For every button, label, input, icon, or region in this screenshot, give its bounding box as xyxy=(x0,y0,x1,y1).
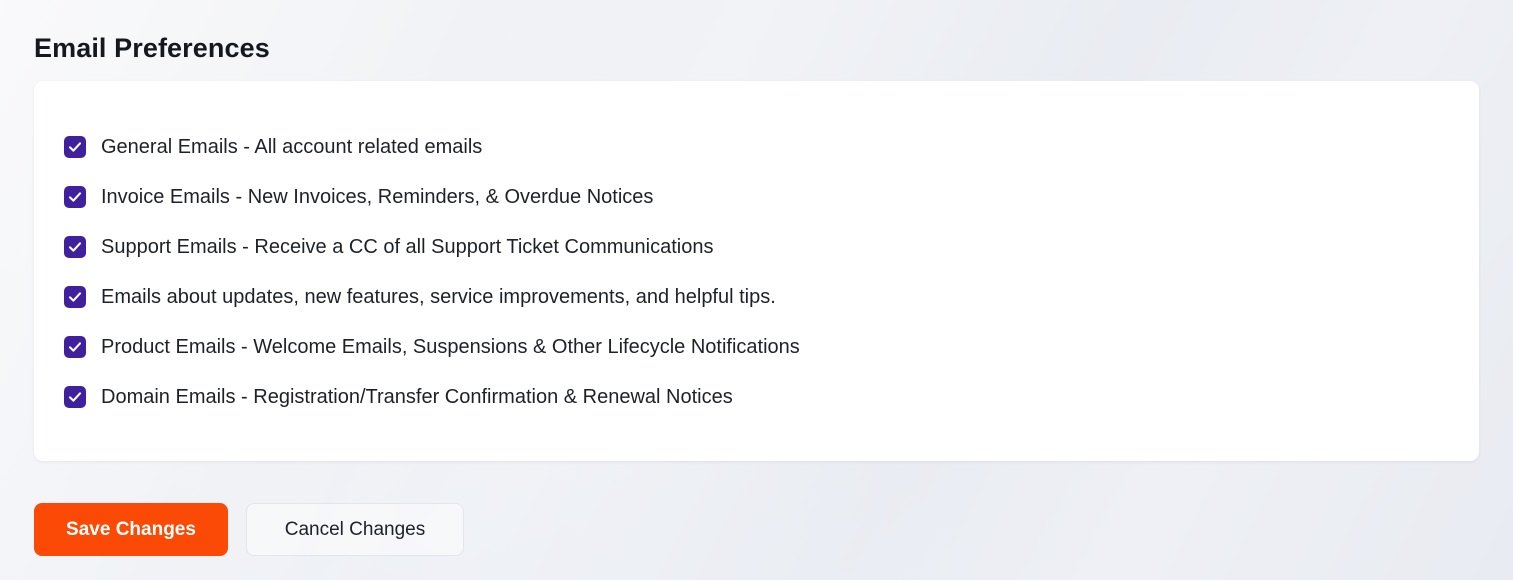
check-icon xyxy=(68,140,82,154)
list-item[interactable]: General Emails - All account related ema… xyxy=(64,122,1455,172)
list-item-label: General Emails - All account related ema… xyxy=(101,135,482,159)
list-item[interactable]: Domain Emails - Registration/Transfer Co… xyxy=(64,372,1455,422)
checkbox-product-emails[interactable] xyxy=(64,336,86,358)
checkbox-support-emails[interactable] xyxy=(64,236,86,258)
list-item-label: Emails about updates, new features, serv… xyxy=(101,285,776,309)
check-icon xyxy=(68,340,82,354)
page-title: Email Preferences xyxy=(34,31,270,65)
check-icon xyxy=(68,390,82,404)
list-item-label: Invoice Emails - New Invoices, Reminders… xyxy=(101,185,653,209)
email-preferences-page: Email Preferences General Emails - All a… xyxy=(0,0,1513,580)
list-item-label: Domain Emails - Registration/Transfer Co… xyxy=(101,385,733,409)
email-preferences-card: General Emails - All account related ema… xyxy=(34,81,1479,461)
list-item[interactable]: Product Emails - Welcome Emails, Suspens… xyxy=(64,322,1455,372)
save-changes-button[interactable]: Save Changes xyxy=(34,503,228,556)
list-item[interactable]: Emails about updates, new features, serv… xyxy=(64,272,1455,322)
checkbox-invoice-emails[interactable] xyxy=(64,186,86,208)
check-icon xyxy=(68,240,82,254)
check-icon xyxy=(68,190,82,204)
check-icon xyxy=(68,290,82,304)
list-item[interactable]: Support Emails - Receive a CC of all Sup… xyxy=(64,222,1455,272)
checkbox-update-emails[interactable] xyxy=(64,286,86,308)
preferences-list: General Emails - All account related ema… xyxy=(64,122,1455,422)
list-item-label: Support Emails - Receive a CC of all Sup… xyxy=(101,235,713,259)
checkbox-domain-emails[interactable] xyxy=(64,386,86,408)
list-item-label: Product Emails - Welcome Emails, Suspens… xyxy=(101,335,800,359)
checkbox-general-emails[interactable] xyxy=(64,136,86,158)
list-item[interactable]: Invoice Emails - New Invoices, Reminders… xyxy=(64,172,1455,222)
cancel-changes-button[interactable]: Cancel Changes xyxy=(246,503,464,556)
form-actions: Save Changes Cancel Changes xyxy=(34,503,464,556)
